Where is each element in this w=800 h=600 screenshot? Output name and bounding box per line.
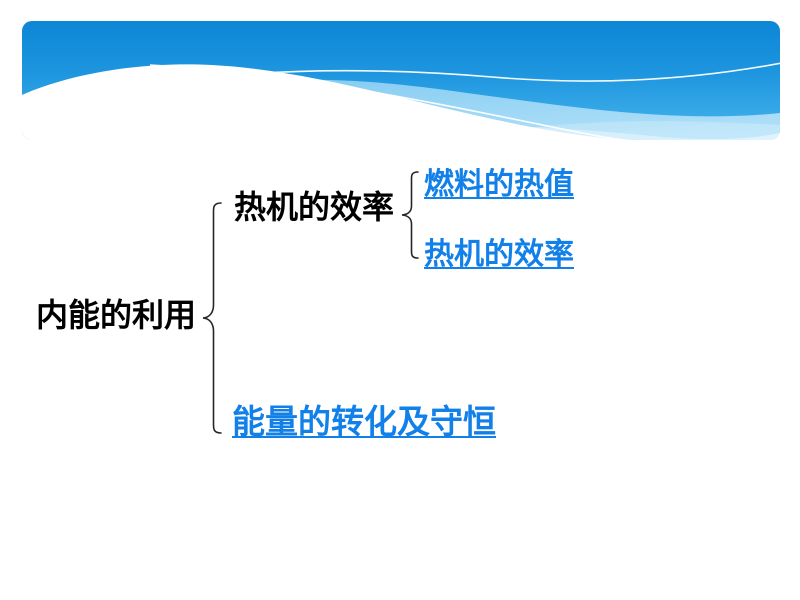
banner-glow [452,121,780,140]
banner-curve-line-2 [150,65,780,140]
banner-wave-white [22,64,780,140]
banner-background [22,21,780,140]
banner-wave-lighter [272,125,780,140]
banner-wave-light [22,80,780,140]
brace-branch-1 [402,172,418,258]
decorative-wave-banner [22,21,780,140]
mindmap-root-label: 内能的利用 [36,299,196,331]
banner-curve-line-1 [22,61,780,113]
presentation-slide: 内能的利用 热机的效率 燃料的热值 热机的效率 能量的转化及守恒 [0,0,800,600]
brace-root [203,203,221,433]
mindmap-link-fuel-heat-value[interactable]: 燃料的热值 [424,170,574,200]
banner-artwork [22,21,780,140]
mindmap-link-heat-engine-efficiency[interactable]: 热机的效率 [424,240,574,270]
mindmap-link-energy-conversion-conservation[interactable]: 能量的转化及守恒 [232,405,496,438]
mindmap-branch-label-heat-engine-efficiency: 热机的效率 [234,191,394,223]
